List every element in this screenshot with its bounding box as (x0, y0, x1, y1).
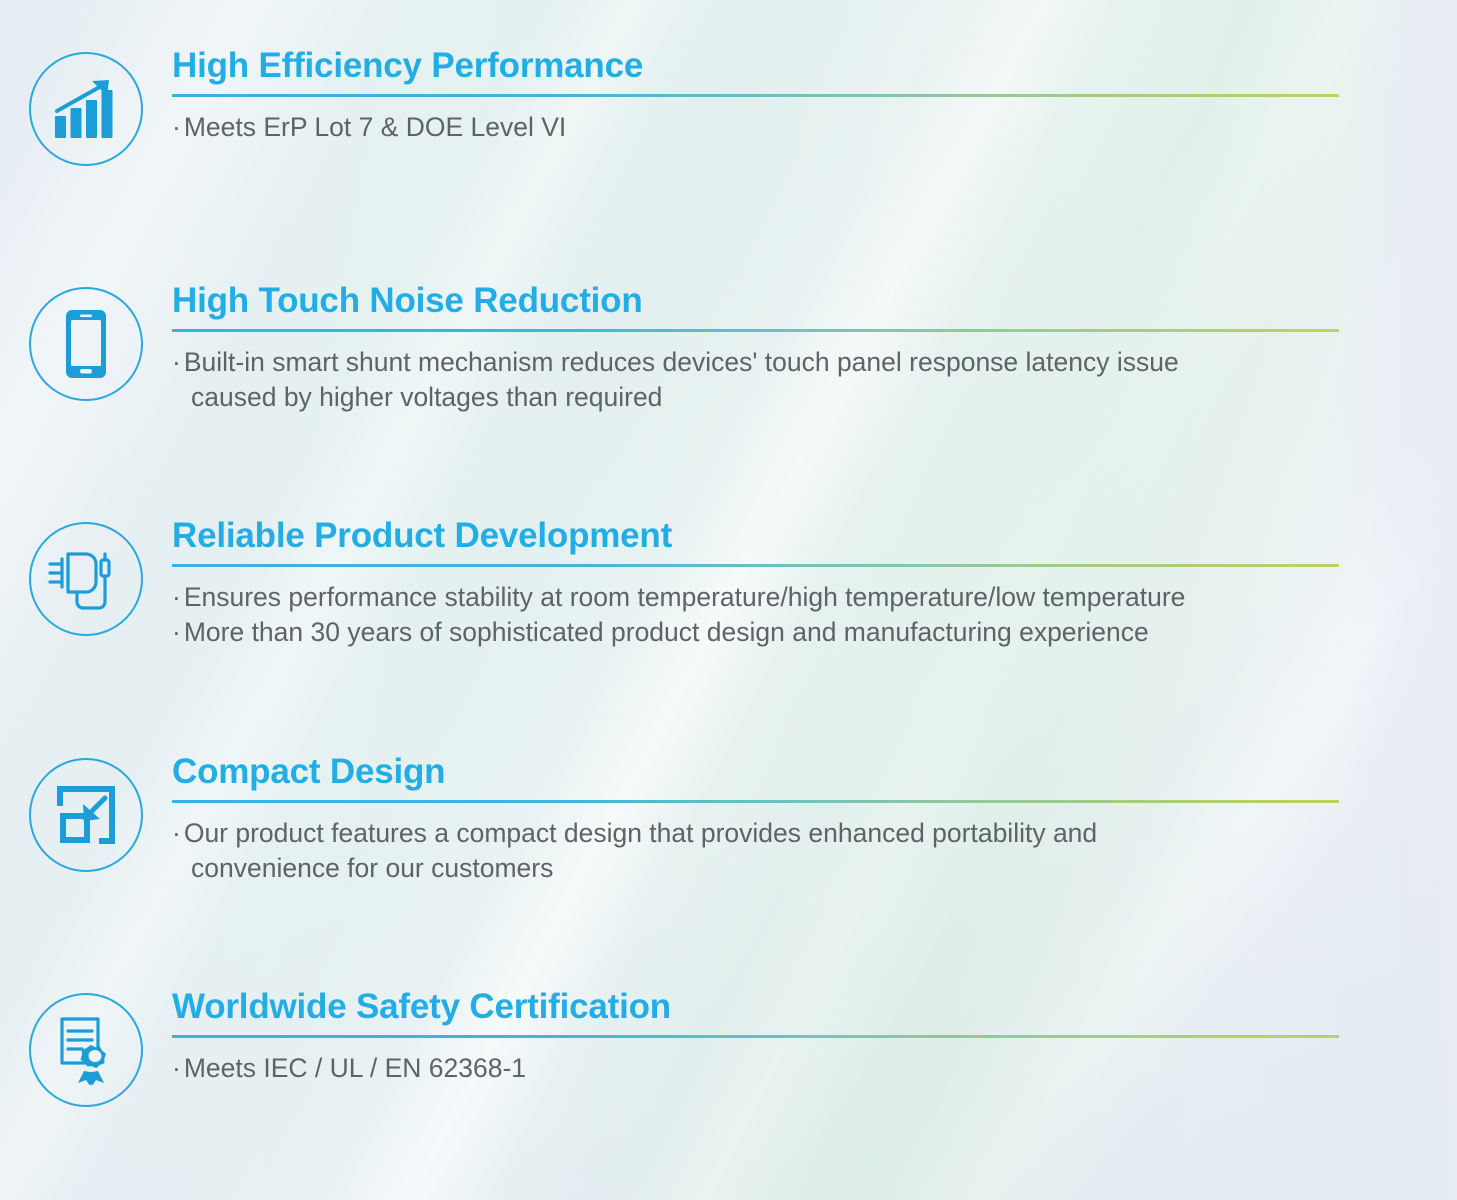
feature-content: High Touch Noise Reduction ·Built-in sma… (172, 283, 1457, 415)
feature-divider (172, 800, 1339, 803)
bullet-text: Ensures performance stability at room te… (184, 582, 1186, 612)
feature-bullets: ·Ensures performance stability at room t… (172, 580, 1377, 650)
bullet-item: ·Built-in smart shunt mechanism reduces … (172, 345, 1377, 415)
bullet-text: Meets ErP Lot 7 & DOE Level VI (184, 112, 566, 142)
compact-resize-icon (29, 758, 143, 872)
bar-chart-growth-icon (29, 52, 143, 166)
bullet-item: ·More than 30 years of sophisticated pro… (172, 615, 1377, 650)
feature-icon-container (0, 518, 172, 636)
bullet-item: ·Our product features a compact design t… (172, 816, 1377, 886)
bullet-text: Meets IEC / UL / EN 62368-1 (184, 1053, 526, 1083)
feature-icon-container (0, 754, 172, 872)
feature-bullets: ·Our product features a compact design t… (172, 816, 1377, 886)
feature-title: Worldwide Safety Certification (172, 989, 1377, 1025)
power-adapter-icon (29, 522, 143, 636)
feature-row: Worldwide Safety Certification ·Meets IE… (0, 989, 1457, 1107)
bullet-marker: · (172, 347, 181, 377)
feature-row: Compact Design ·Our product features a c… (0, 754, 1457, 886)
bullet-text: Built-in smart shunt mechanism reduces d… (184, 347, 1179, 377)
bullet-item: ·Ensures performance stability at room t… (172, 580, 1377, 615)
feature-divider (172, 329, 1339, 332)
feature-title: Compact Design (172, 754, 1377, 790)
feature-content: High Efficiency Performance ·Meets ErP L… (172, 48, 1457, 145)
feature-bullets: ·Meets ErP Lot 7 & DOE Level VI (172, 110, 1377, 145)
feature-row: High Efficiency Performance ·Meets ErP L… (0, 48, 1457, 166)
bullet-text: More than 30 years of sophisticated prod… (184, 617, 1149, 647)
feature-bullets: ·Meets IEC / UL / EN 62368-1 (172, 1051, 1377, 1086)
bullet-item: ·Meets ErP Lot 7 & DOE Level VI (172, 110, 1377, 145)
feature-content: Reliable Product Development ·Ensures pe… (172, 518, 1457, 650)
feature-divider (172, 564, 1339, 567)
feature-divider (172, 94, 1339, 97)
feature-content: Worldwide Safety Certification ·Meets IE… (172, 989, 1457, 1086)
feature-title: High Touch Noise Reduction (172, 283, 1377, 319)
bullet-text: Our product features a compact design th… (184, 818, 1097, 848)
feature-icon-container (0, 48, 172, 166)
feature-icon-container (0, 989, 172, 1107)
bullet-marker: · (172, 582, 181, 612)
certificate-award-icon (29, 993, 143, 1107)
feature-content: Compact Design ·Our product features a c… (172, 754, 1457, 886)
feature-list-page: High Efficiency Performance ·Meets ErP L… (0, 0, 1457, 1200)
feature-row: Reliable Product Development ·Ensures pe… (0, 518, 1457, 650)
bullet-marker: · (172, 112, 181, 142)
feature-title: Reliable Product Development (172, 518, 1377, 554)
feature-icon-container (0, 283, 172, 401)
feature-bullets: ·Built-in smart shunt mechanism reduces … (172, 345, 1377, 415)
bullet-marker: · (172, 818, 181, 848)
feature-divider (172, 1035, 1339, 1038)
bullet-marker: · (172, 617, 181, 647)
bullet-text-continued: convenience for our customers (172, 851, 1377, 886)
bullet-text-continued: caused by higher voltages than required (172, 380, 1377, 415)
bullet-item: ·Meets IEC / UL / EN 62368-1 (172, 1051, 1377, 1086)
smartphone-icon (29, 287, 143, 401)
feature-title: High Efficiency Performance (172, 48, 1377, 84)
feature-row: High Touch Noise Reduction ·Built-in sma… (0, 283, 1457, 415)
bullet-marker: · (172, 1053, 181, 1083)
